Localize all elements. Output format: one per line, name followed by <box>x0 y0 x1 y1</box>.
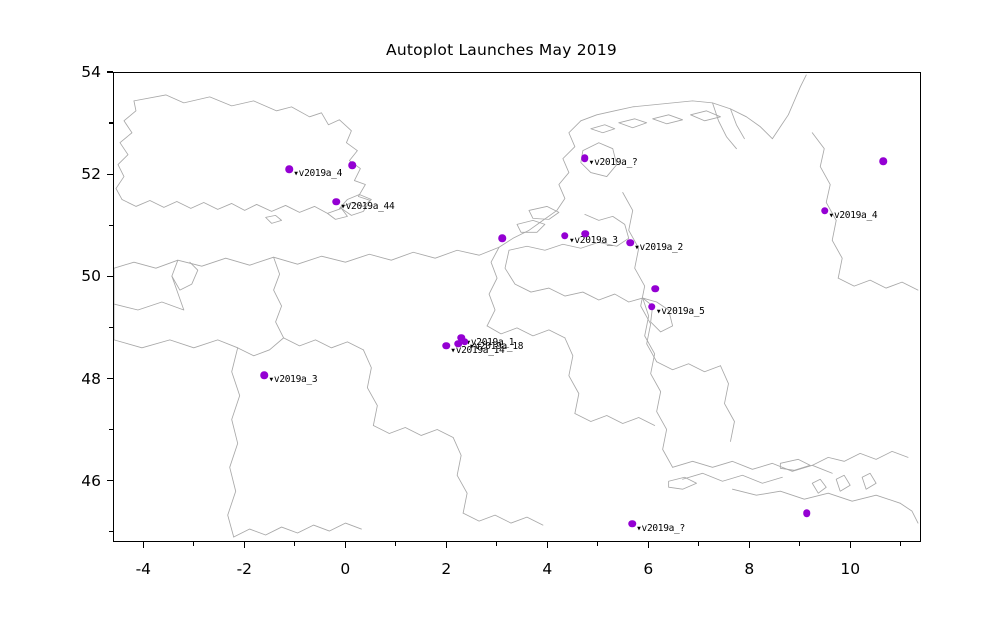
y-tick-label: 48 <box>81 370 101 388</box>
y-minor-tick <box>109 327 113 328</box>
launch-marker[interactable] <box>349 162 357 170</box>
x-minor-tick <box>799 542 800 546</box>
y-minor-tick <box>109 225 113 226</box>
x-tick <box>244 542 245 548</box>
x-tick <box>547 542 548 548</box>
launch-marker[interactable] <box>461 338 469 346</box>
launch-marker[interactable] <box>628 520 636 528</box>
launch-marker[interactable] <box>561 232 569 240</box>
y-minor-tick <box>109 122 113 123</box>
launch-marker[interactable] <box>581 230 589 238</box>
launch-marker[interactable] <box>443 342 451 350</box>
y-tick <box>107 378 113 379</box>
x-tick <box>446 542 447 548</box>
y-tick-label: 50 <box>81 267 101 285</box>
coastline-svg <box>114 73 920 541</box>
map-plot-area: ▾v2019a_4▾v2019a_44▾v2019a_3▾v2019a_?▾v2… <box>113 72 921 542</box>
x-tick-label: 0 <box>340 560 350 578</box>
launch-marker-label: ▾v2019a_2 <box>634 242 683 253</box>
launch-marker[interactable] <box>648 303 656 311</box>
x-minor-tick <box>900 542 901 546</box>
launch-marker[interactable] <box>581 155 589 163</box>
x-tick <box>143 542 144 548</box>
y-tick-label: 52 <box>81 165 101 183</box>
launch-marker-label: ▾v2019a_4 <box>829 210 878 221</box>
x-tick <box>648 542 649 548</box>
launch-marker-label: ▾v2019a_3 <box>268 374 317 385</box>
launch-marker-label: ▾v2019a_3 <box>569 235 618 246</box>
y-minor-tick <box>109 531 113 532</box>
launch-marker-label: ▾v2019a_4 <box>293 168 342 179</box>
launch-marker[interactable] <box>285 165 293 173</box>
page-title: Autoplot Launches May 2019 <box>0 41 1003 59</box>
x-tick-label: 10 <box>840 560 860 578</box>
launch-marker[interactable] <box>821 207 829 215</box>
launch-marker[interactable] <box>455 340 463 348</box>
launch-marker[interactable] <box>652 285 660 293</box>
y-tick <box>107 276 113 277</box>
x-tick <box>345 542 346 548</box>
launch-marker[interactable] <box>499 234 507 242</box>
x-minor-tick <box>294 542 295 546</box>
x-tick-label: 4 <box>542 560 552 578</box>
x-tick <box>850 542 851 548</box>
launch-marker[interactable] <box>879 158 887 166</box>
y-tick <box>107 71 113 72</box>
x-tick-label: 8 <box>744 560 754 578</box>
x-tick-label: 2 <box>441 560 451 578</box>
figure-canvas: Autoplot Launches May 2019 <box>0 0 1003 633</box>
x-minor-tick <box>193 542 194 546</box>
x-tick-label: -2 <box>237 560 252 578</box>
x-tick <box>749 542 750 548</box>
launch-marker[interactable] <box>332 198 340 206</box>
x-minor-tick <box>698 542 699 546</box>
launch-marker-label: ▾v2019a_? <box>636 523 685 534</box>
launch-marker-label: ▾v2019a_18 <box>469 341 523 352</box>
x-tick-label: -4 <box>136 560 151 578</box>
launch-marker[interactable] <box>626 239 634 247</box>
launch-marker-label: ▾v2019a_? <box>589 157 638 168</box>
launch-marker[interactable] <box>803 510 811 518</box>
y-minor-tick <box>109 429 113 430</box>
y-tick <box>107 174 113 175</box>
coastline-layer <box>114 73 920 541</box>
y-tick-label: 54 <box>81 63 101 81</box>
y-tick <box>107 480 113 481</box>
launch-marker[interactable] <box>261 372 269 380</box>
launch-marker-label: ▾v2019a_44 <box>340 201 394 212</box>
x-tick-label: 6 <box>643 560 653 578</box>
x-minor-tick <box>395 542 396 546</box>
x-minor-tick <box>496 542 497 546</box>
launch-marker-label: ▾v2019a_5 <box>656 306 705 317</box>
x-minor-tick <box>597 542 598 546</box>
y-tick-label: 46 <box>81 472 101 490</box>
